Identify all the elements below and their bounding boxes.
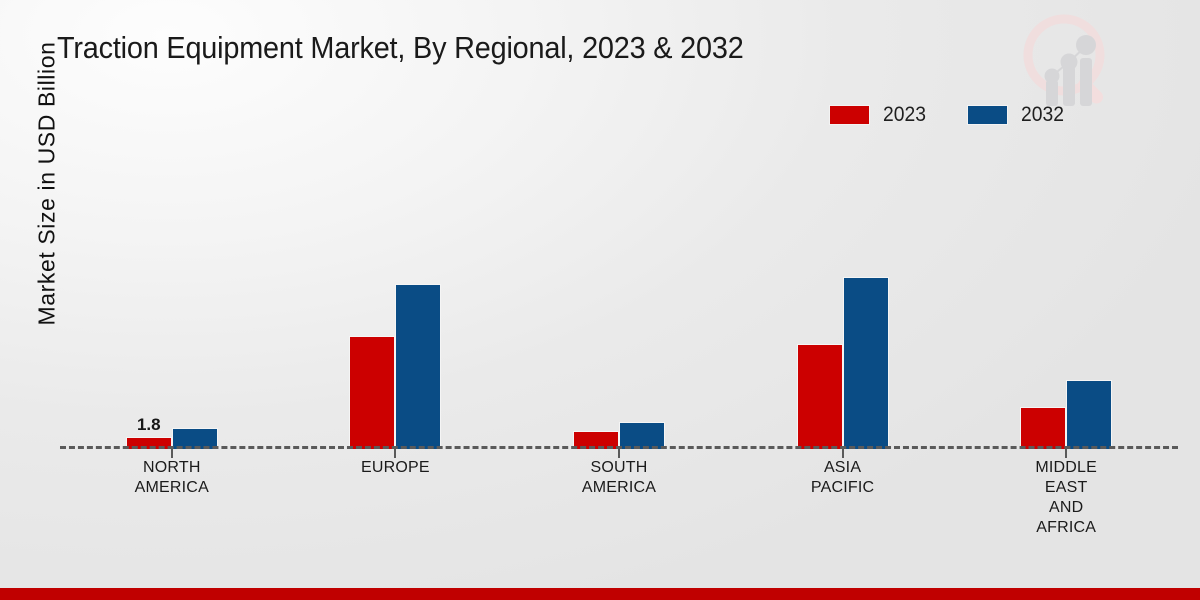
watermark-logo: [1010, 6, 1122, 118]
bar-value-label: 1.8: [137, 415, 161, 435]
x-axis-label-asia-pacific: ASIA PACIFIC: [731, 458, 955, 538]
bar-2023-middle-east-and-africa[interactable]: [1020, 407, 1066, 449]
magnifier-icon: [1028, 19, 1106, 106]
x-axis-label-south-america: SOUTH AMERICA: [507, 458, 731, 538]
axis-tick: [618, 449, 620, 458]
bar-2023-europe[interactable]: [349, 336, 395, 449]
legend-label-2032: 2032: [1021, 103, 1064, 127]
footer-accent-bar: [0, 588, 1200, 600]
trend-dots-icon: [1045, 35, 1097, 84]
axis-tick: [842, 449, 844, 458]
x-axis-labels: NORTH AMERICA EUROPE SOUTH AMERICA ASIA …: [60, 458, 1178, 538]
axis-tick: [394, 449, 396, 458]
bar-group-middle-east-and-africa: [954, 150, 1178, 449]
bar-2032-europe[interactable]: [395, 284, 441, 449]
bar-2032-south-america[interactable]: [619, 422, 665, 449]
bar-2032-asia-pacific[interactable]: [843, 277, 889, 449]
page-title: Traction Equipment Market, By Regional, …: [57, 30, 744, 66]
legend-item-2032[interactable]: 2032: [967, 103, 1068, 127]
chart-legend: 2023 2032: [829, 103, 1068, 127]
infographic-canvas: Traction Equipment Market, By Regional, …: [0, 0, 1200, 600]
axis-tick: [171, 449, 173, 458]
legend-label-2023: 2023: [883, 103, 926, 127]
legend-swatch-2023: [829, 105, 870, 125]
bar-group-europe: [284, 150, 508, 449]
bar-2023-asia-pacific[interactable]: [797, 344, 843, 449]
x-axis-label-north-america: NORTH AMERICA: [60, 458, 284, 538]
x-axis-baseline: [60, 446, 1178, 449]
axis-tick: [1065, 449, 1067, 458]
legend-item-2023[interactable]: 2023: [829, 103, 930, 127]
bar-chart-icon: [1046, 58, 1092, 106]
plot-area: 1.8: [60, 150, 1178, 449]
bar-groups: 1.8: [60, 150, 1178, 449]
legend-swatch-2032: [967, 105, 1008, 125]
x-axis-label-europe: EUROPE: [284, 458, 508, 538]
bar-group-north-america: 1.8: [60, 150, 284, 449]
bar-group-asia-pacific: [731, 150, 955, 449]
bar-2032-middle-east-and-africa[interactable]: [1066, 380, 1112, 449]
bar-group-south-america: [507, 150, 731, 449]
y-axis-title: Market Size in USD Billion: [34, 19, 61, 349]
x-axis-label-middle-east-and-africa: MIDDLE EAST AND AFRICA: [954, 458, 1178, 538]
